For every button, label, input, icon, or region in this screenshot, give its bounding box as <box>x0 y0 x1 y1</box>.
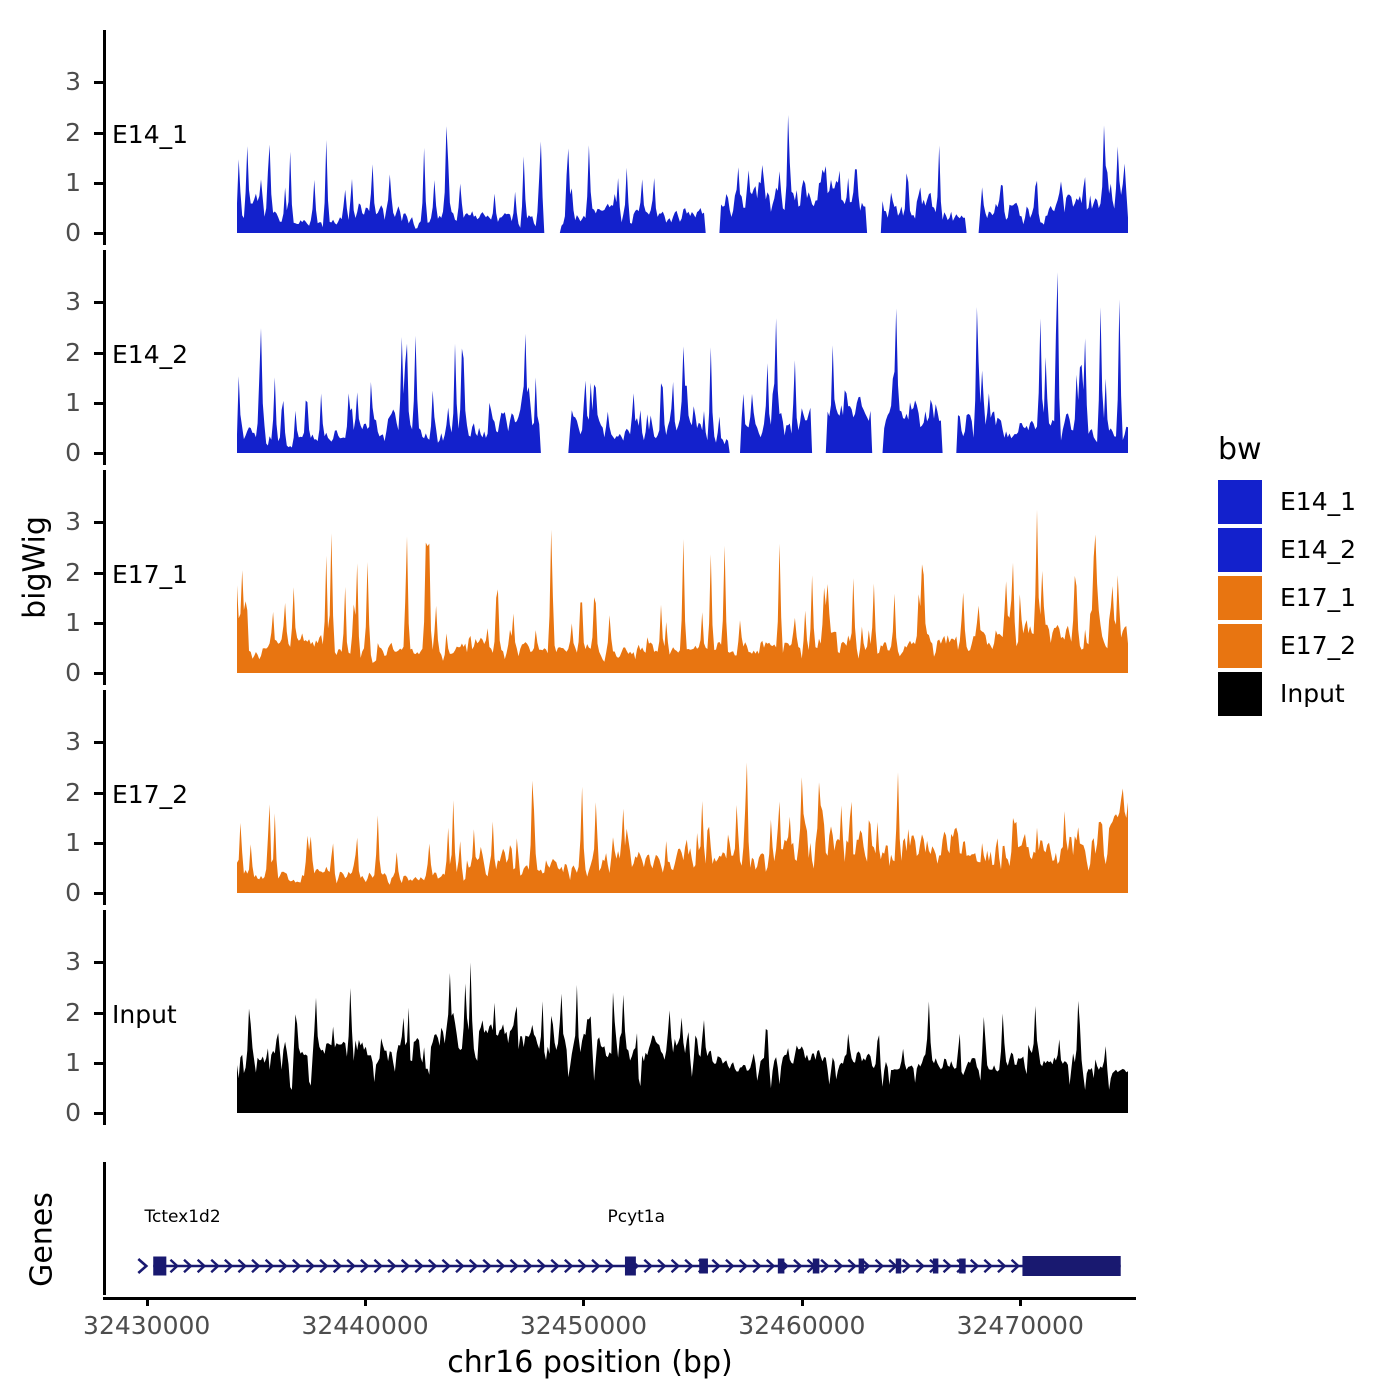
legend-swatch-e14_1[interactable] <box>1218 480 1262 524</box>
legend-label-e14_1: E14_1 <box>1280 480 1356 524</box>
legend-label-e14_2: E14_2 <box>1280 528 1356 572</box>
legend: bwE14_1E14_2E17_1E17_2Input <box>0 0 1400 1400</box>
legend-label-e17_2: E17_2 <box>1280 624 1356 668</box>
legend-title: bw <box>1218 432 1262 467</box>
legend-swatch-e17_2[interactable] <box>1218 624 1262 668</box>
legend-label-e17_1: E17_1 <box>1280 576 1356 620</box>
legend-swatch-input[interactable] <box>1218 672 1262 716</box>
figure-root: bigWig Genes 0123E14_10123E14_20123E17_1… <box>0 0 1400 1400</box>
legend-swatch-e14_2[interactable] <box>1218 528 1262 572</box>
legend-label-input: Input <box>1280 672 1345 716</box>
legend-swatch-e17_1[interactable] <box>1218 576 1262 620</box>
